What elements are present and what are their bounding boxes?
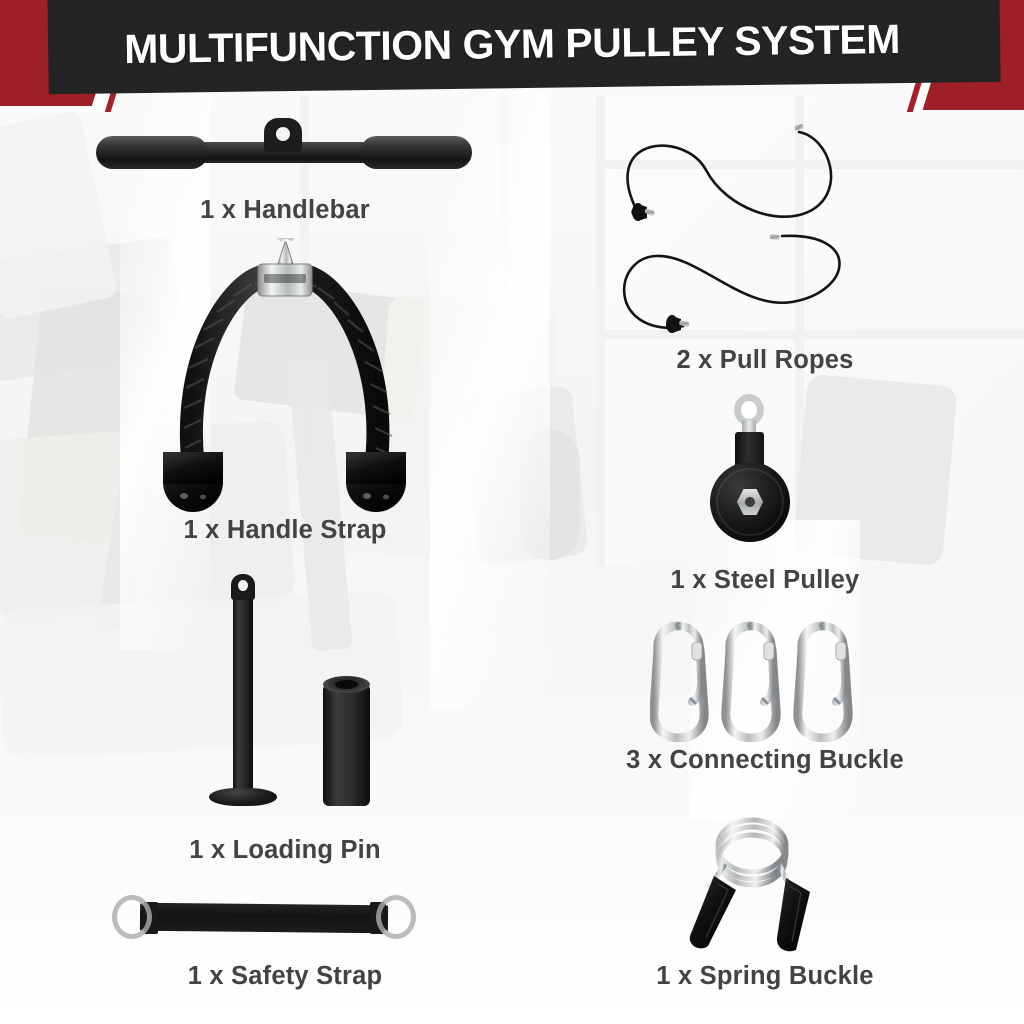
cap-highlight	[363, 493, 371, 499]
carabiner-1-gate	[679, 626, 701, 702]
cap-highlight	[383, 495, 389, 500]
steel-pulley-label: 1 x Steel Pulley	[575, 566, 955, 595]
loading-pin-base-plate	[209, 788, 277, 806]
cable-2-end-ferrule	[769, 234, 779, 240]
light-sheen	[430, 90, 550, 710]
page-title: MULTIFUNCTION GYM PULLEY SYSTEM	[0, 0, 1024, 95]
pull-ropes-drawing	[594, 112, 934, 337]
pulley-center-bolt	[745, 497, 755, 507]
rope-hook-eye	[279, 238, 293, 240]
safety-strap-webbing	[140, 903, 388, 934]
loading-pin-rod	[233, 590, 253, 795]
tricep-rope-drawing	[160, 238, 410, 513]
pulley-wheel-icon	[694, 394, 809, 549]
carabiner-3	[798, 626, 848, 738]
cable-1-stopper-body	[632, 203, 644, 221]
carabiners-drawing	[650, 614, 865, 742]
connecting-buckle-label: 3 x Connecting Buckle	[560, 746, 970, 775]
tricep-rope-icon	[160, 238, 410, 513]
safety-strap-icon	[112, 893, 442, 945]
spring-buckle-label: 1 x Spring Buckle	[575, 962, 955, 991]
carabiner-3-sleeve	[836, 642, 846, 660]
handlebar-attachment-hole	[276, 127, 290, 141]
handlebar-grip-right	[360, 136, 472, 169]
loading-pin-sleeve	[323, 684, 370, 806]
pull-ropes-label: 2 x Pull Ropes	[575, 346, 955, 375]
pull-rope-cable-1	[628, 132, 832, 217]
cable-1-end-ferrule	[794, 124, 804, 131]
carabiner-1-sleeve	[692, 642, 702, 660]
rope-end-cap-left-body	[163, 452, 223, 484]
carabiner-2-sleeve	[764, 642, 774, 660]
spring-grip-left	[690, 876, 736, 948]
safety-strap-d-ring-left	[112, 895, 152, 939]
pull-rope-cable-2	[624, 236, 839, 328]
carabiner-1	[654, 626, 704, 738]
carabiner-2	[726, 626, 776, 738]
loading-pin-icon	[205, 572, 395, 817]
spring-coil	[718, 820, 786, 885]
safety-strap-d-ring-right	[376, 895, 416, 939]
header-banner: MULTIFUNCTION GYM PULLEY SYSTEM	[0, 0, 1024, 112]
carabiner-2-gate	[751, 626, 773, 702]
spring-collar-clamp-icon	[680, 812, 825, 952]
safety-strap-label: 1 x Safety Strap	[110, 962, 460, 991]
handle-strap-label: 1 x Handle Strap	[110, 516, 460, 545]
rope-hook-stem	[278, 242, 293, 264]
product-infographic: MULTIFUNCTION GYM PULLEY SYSTEM 1 x Hand…	[0, 0, 1024, 1024]
cap-highlight	[180, 493, 188, 499]
carabiner-snap-hook-icon	[650, 614, 865, 742]
carabiner-3-gate	[823, 626, 845, 702]
cap-highlight	[200, 495, 206, 500]
loading-pin-label: 1 x Loading Pin	[110, 836, 460, 865]
rope-end-cap-right-body	[346, 452, 406, 484]
loading-pin-sleeve-bore	[335, 680, 358, 689]
handlebar-label: 1 x Handlebar	[100, 196, 470, 225]
rope-body	[191, 276, 378, 466]
handlebar-grip-left	[96, 136, 208, 169]
pull-rope-cable-icon	[594, 112, 934, 337]
spring-buckle-drawing	[680, 812, 825, 952]
rope-clamp-shadow	[264, 274, 306, 283]
handlebar-icon	[100, 118, 470, 178]
loading-pin-eyelet-hole	[238, 580, 248, 591]
